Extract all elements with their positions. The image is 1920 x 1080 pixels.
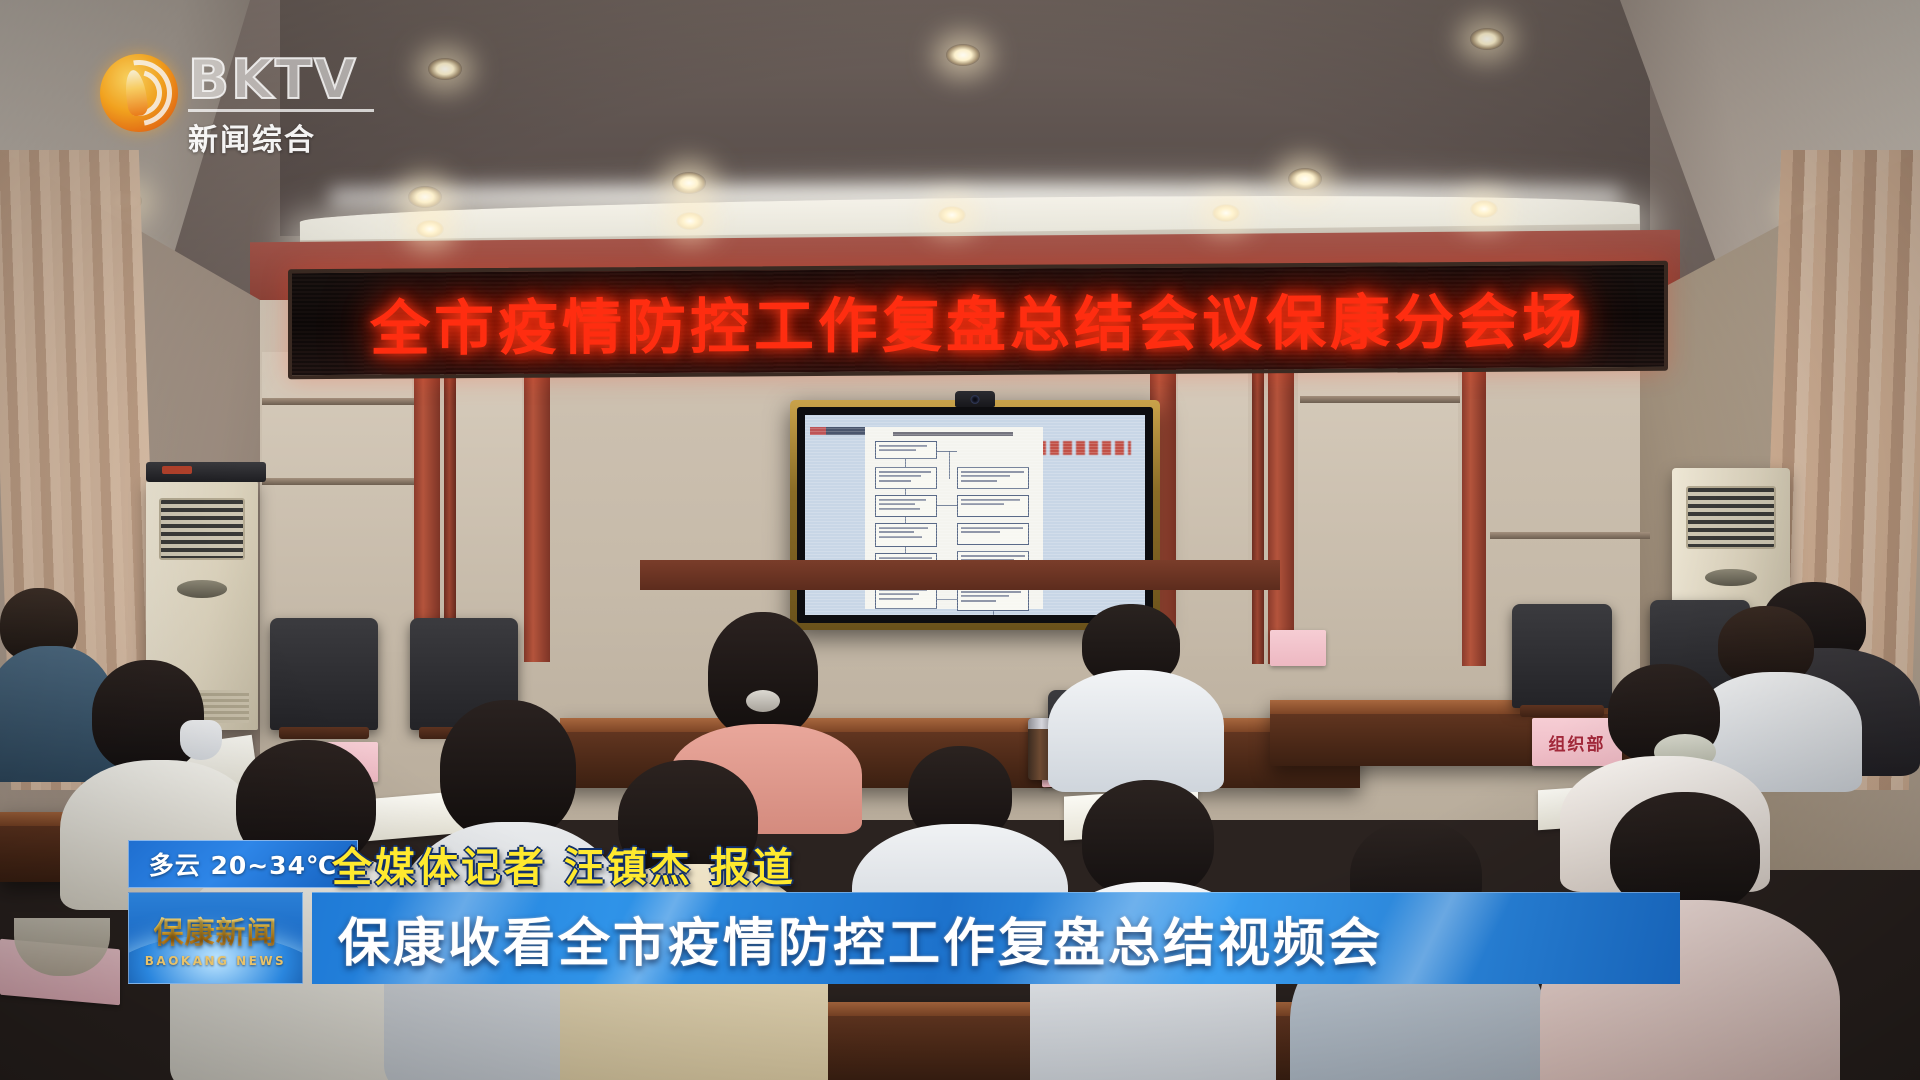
headline-text: 保康收看全市疫情防控工作复盘总结视频会 [312,901,1383,976]
flowchart-box [957,495,1029,517]
slide-browser-tab [810,427,940,435]
program-name-en: BAOKANG NEWS [145,954,286,968]
program-logo-box: 保康新闻 BAOKANG NEWS [128,892,303,984]
table-name-placard [1270,630,1326,666]
attendee [1048,604,1224,784]
wall-wood-trim [1252,358,1264,664]
headline-banner: 保康收看全市疫情防控工作复盘总结视频会 [312,892,1680,984]
flame-swirl-icon [100,54,178,132]
ceiling-downlight [1470,28,1504,50]
flowchart-box [957,523,1029,545]
wall-panel [262,352,412,652]
attendee-head [440,700,576,840]
ceiling-downlight [946,44,980,66]
ceiling-downlight [938,206,966,224]
ac-vent-grill [159,498,244,561]
flowchart-box [875,467,937,489]
channel-call-sign: BKTV [188,52,398,108]
channel-logo-watermark: BKTV 新闻综合 [100,52,400,160]
flowchart-connector [905,517,906,523]
front-podium-ledge [640,560,1280,590]
program-name-cn: 保康新闻 [154,908,278,952]
ceiling-downlight [1288,168,1322,190]
wall-wood-pillar [1462,348,1486,666]
ac-remote-indicator [162,466,192,474]
attendee-torso [1048,670,1224,792]
wall-chair-rail [262,398,414,405]
ac-vent-grill [1686,486,1776,549]
flowchart-connector [937,599,957,600]
channel-logo-text: BKTV 新闻综合 [188,52,398,159]
slide-title-line [893,432,1013,436]
attendee-head [1082,780,1214,898]
video-conference-camera-icon [955,391,995,407]
attendee-head [708,612,818,738]
flowchart-connector [905,489,906,495]
ceiling-downlight [1470,200,1498,218]
led-banner-text: 全市疫情防控工作复盘总结会议保康分会场 [370,273,1586,367]
wall-mounted-tv [790,400,1160,630]
flowchart-connector [937,505,957,506]
broadcast-frame: 全市疫情防控工作复盘总结会议保康分会场 [0,0,1920,1080]
ceiling-downlight [672,172,706,194]
flowchart-box [875,523,937,547]
flowchart-connector [905,459,906,467]
reporter-credit-text: 全媒体记者 汪镇杰 报道 [332,835,796,893]
hair-clip [746,690,780,712]
flowchart-box [875,441,937,459]
flowchart-connector [905,547,906,553]
wall-wood-pillar [1268,352,1294,664]
flowchart-box [957,587,1029,611]
led-scrolling-banner: 全市疫情防控工作复盘总结会议保康分会场 [288,261,1668,379]
ceiling-downlight [1212,204,1240,222]
weather-text: 多云 20~34℃ [149,846,338,882]
wall-chair-rail [262,478,414,485]
wall-wood-pillar [524,362,550,662]
ceiling-downlight [416,220,444,238]
ceiling-downlight [408,186,442,208]
flowchart-box [875,495,937,517]
wall-chair-rail [1300,396,1460,403]
slide-header-red-text [1011,441,1131,455]
ceiling-downlight [676,212,704,230]
flowchart-connector [949,451,950,479]
ac-display-panel [177,580,226,598]
wall-panel [456,366,522,656]
office-chair [270,618,378,730]
channel-subtitle: 新闻综合 [188,115,398,159]
wall-chair-rail [1490,532,1650,539]
reporter-credit: 全媒体记者 汪镇杰 报道 [318,836,810,892]
flowchart-connector [993,611,994,615]
ceiling-downlight [428,58,462,80]
tv-bezel [797,407,1153,623]
flowchart-connector [937,451,957,452]
flowchart-box [957,467,1029,489]
